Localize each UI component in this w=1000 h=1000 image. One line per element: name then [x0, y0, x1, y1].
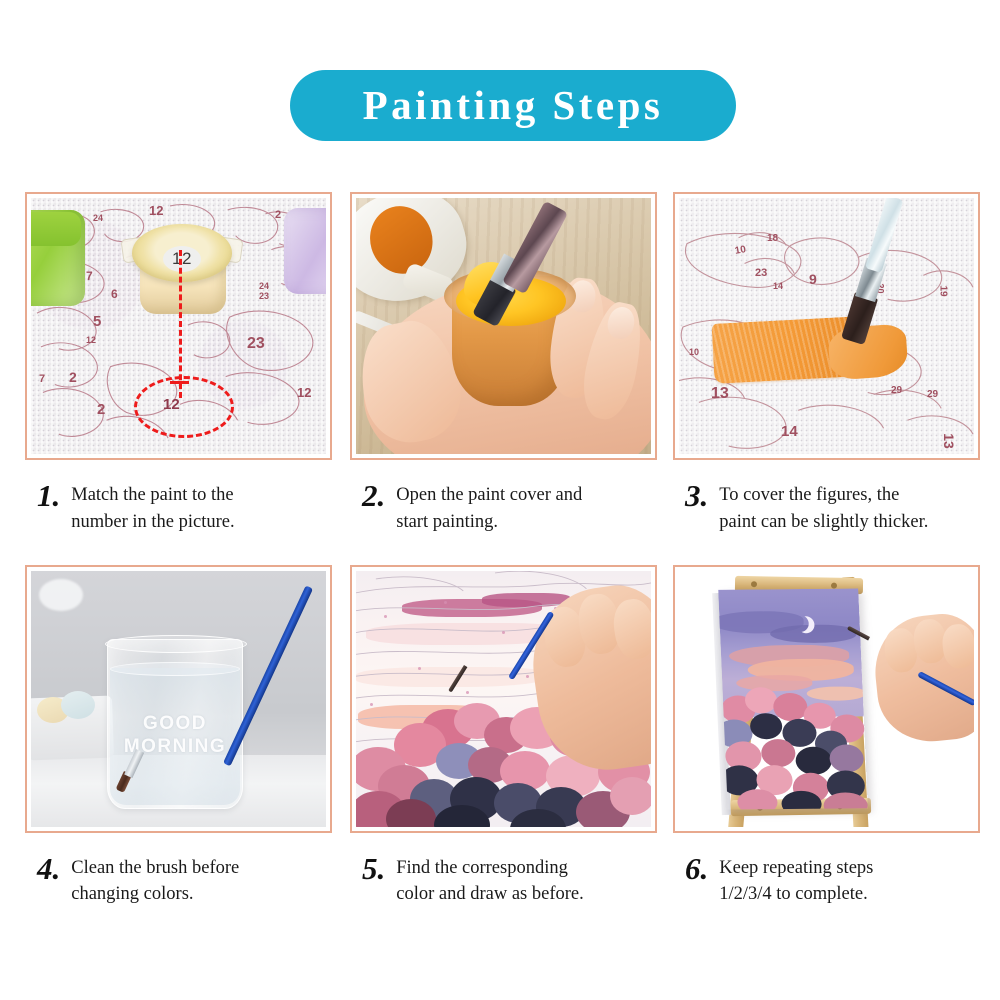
glass-rim — [105, 635, 247, 653]
canvas-number: 7 — [39, 374, 45, 385]
step-text: Keep repeating steps 1/2/3/4 to complete… — [719, 851, 873, 909]
canvas-number: 24 — [93, 214, 103, 223]
step-cell-6: 6. Keep repeating steps 1/2/3/4 to compl… — [673, 565, 980, 909]
step-6-caption: 6. Keep repeating steps 1/2/3/4 to compl… — [673, 851, 980, 909]
pot-lid: 12 — [132, 224, 232, 282]
brush-rinsing-in-water-glass-photo: GOOD MORNING — [31, 571, 326, 827]
canvas-number: 10 — [689, 348, 699, 357]
step-4-photo-frame: GOOD MORNING — [25, 565, 332, 833]
step-number: 4. — [37, 851, 60, 884]
step-2-caption: 2. Open the paint cover and start painti… — [350, 478, 657, 536]
opening-paint-pot-with-brush-photo — [356, 198, 651, 454]
painted-cherry-blossoms — [718, 684, 867, 809]
canvas-number: 14 — [773, 282, 783, 291]
painted-cloud — [770, 624, 857, 643]
step-cell-1: 12 24 2 7 6 5 23 12 2 2 7 24 23 12 — [25, 192, 332, 536]
glass-printed-text: GOOD MORNING — [108, 712, 242, 758]
canvas-number: 12 — [297, 386, 311, 399]
step-number: 6. — [685, 851, 708, 884]
canvas-number: 12 — [86, 336, 96, 345]
numbered-paint-pot: 12 — [126, 216, 238, 316]
step-5-caption: 5. Find the corresponding color and draw… — [350, 851, 657, 909]
annotation-target-number: 12 — [163, 396, 180, 413]
hand-painting-cherry-blossom-canvas-photo — [356, 571, 651, 827]
step-4-caption: 4. Clean the brush before changing color… — [25, 851, 332, 909]
step-text: Open the paint cover and start painting. — [396, 478, 582, 536]
step-5-photo-frame — [350, 565, 657, 833]
step-text: Match the paint to the number in the pic… — [71, 478, 234, 536]
step-number: 1. — [37, 478, 60, 511]
step-6-photo-frame — [673, 565, 980, 833]
steps-row-bottom: GOOD MORNING 4. Clean the brush before c… — [0, 565, 1000, 909]
page-title: Painting Steps — [363, 85, 664, 126]
purple-paint-pot — [284, 208, 326, 294]
finished-painting-on-easel-photo — [679, 571, 974, 827]
step-2-photo-frame — [350, 192, 657, 460]
green-paint-pot — [31, 210, 85, 306]
canvas-number: 2 — [97, 402, 105, 417]
background-object — [39, 579, 83, 611]
step-text: To cover the figures, the paint can be s… — [719, 478, 928, 536]
canvas-number: 18 — [767, 234, 778, 244]
step-cell-5: 5. Find the corresponding color and draw… — [350, 565, 657, 909]
brush-applying-orange-paint-photo: 10 18 23 14 9 20 13 19 10 13 29 14 29 20 — [679, 198, 974, 454]
canvas-number: 5 — [93, 314, 101, 329]
step-cell-2: 2. Open the paint cover and start painti… — [350, 192, 657, 536]
background-decor — [61, 691, 95, 719]
steps-row-top: 12 24 2 7 6 5 23 12 2 2 7 24 23 12 — [0, 192, 1000, 536]
canvas-number: 14 — [781, 424, 798, 439]
canvas-number: 23 — [259, 292, 269, 301]
canvas-number: 7 — [86, 270, 93, 282]
canvas-number: 23 — [755, 268, 767, 279]
canvas-number: 29 — [891, 386, 902, 396]
canvas-number: 13 — [942, 433, 956, 449]
canvas-number: 19 — [938, 285, 948, 296]
step-3-photo-frame: 10 18 23 14 9 20 13 19 10 13 29 14 29 20 — [673, 192, 980, 460]
step-3-caption: 3. To cover the figures, the paint can b… — [673, 478, 980, 536]
pot-number-label: 12 — [163, 246, 201, 272]
painting-steps-grid: 12 24 2 7 6 5 23 12 2 2 7 24 23 12 — [0, 192, 1000, 908]
canvas-number: 23 — [247, 336, 265, 352]
canvas-number: 2 — [69, 370, 77, 384]
canvas-number: 13 — [711, 386, 729, 402]
canvas-number: 9 — [809, 272, 817, 286]
page-title-banner: Painting Steps — [290, 70, 736, 141]
canvas-number: 29 — [927, 390, 938, 400]
step-cell-3: 10 18 23 14 9 20 13 19 10 13 29 14 29 20 — [673, 192, 980, 536]
step-text: Clean the brush before changing colors. — [71, 851, 239, 909]
canvas-number: 6 — [111, 288, 118, 300]
step-number: 5. — [362, 851, 385, 884]
paint-pot-on-numbered-canvas-photo: 12 24 2 7 6 5 23 12 2 2 7 24 23 12 — [31, 198, 326, 454]
step-number: 2. — [362, 478, 385, 511]
water-surface — [110, 662, 240, 676]
canvas-number: 10 — [734, 245, 747, 257]
canvas-number: 2 — [275, 210, 281, 221]
step-number: 3. — [685, 478, 708, 511]
finished-canvas — [718, 588, 868, 809]
step-1-photo-frame: 12 24 2 7 6 5 23 12 2 2 7 24 23 12 — [25, 192, 332, 460]
annotation-dashed-ellipse — [134, 376, 234, 438]
step-1-caption: 1. Match the paint to the number in the … — [25, 478, 332, 536]
canvas-number: 24 — [259, 282, 269, 291]
step-cell-4: GOOD MORNING 4. Clean the brush before c… — [25, 565, 332, 909]
step-text: Find the corresponding color and draw as… — [396, 851, 583, 909]
